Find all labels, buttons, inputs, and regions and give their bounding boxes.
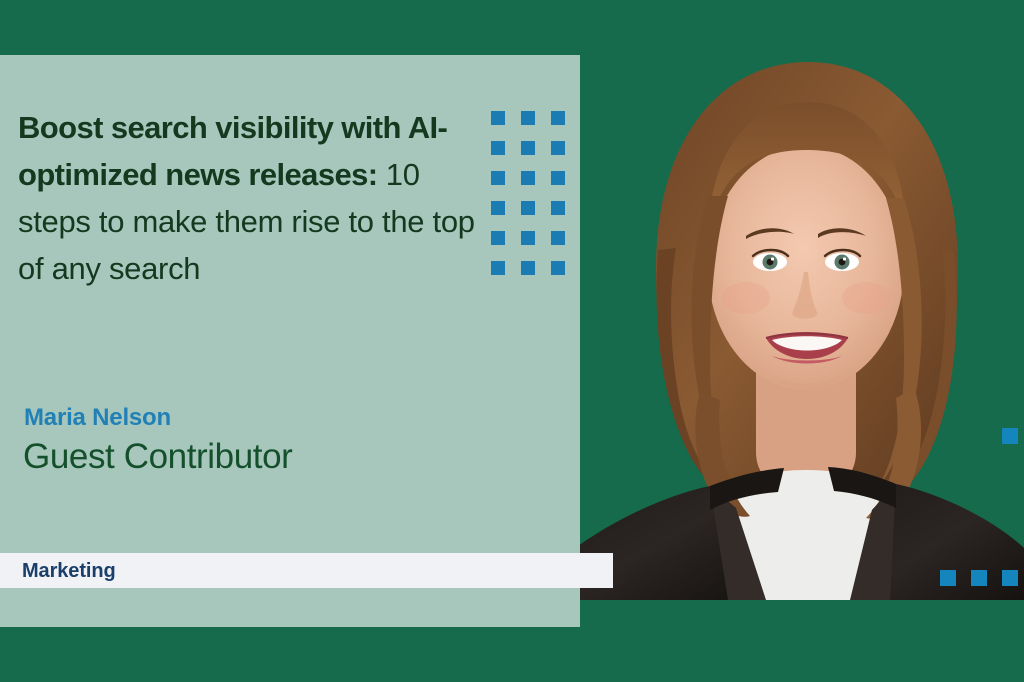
author-name: Maria Nelson xyxy=(24,404,171,432)
grid-square xyxy=(551,231,565,245)
grid-square xyxy=(551,171,565,185)
grid-square xyxy=(491,171,505,185)
article-promo-card: Boost search visibility with AI-optimize… xyxy=(0,0,1024,682)
accent-square-bottom-1 xyxy=(940,570,956,586)
grid-square xyxy=(521,201,535,215)
grid-square xyxy=(551,261,565,275)
decorative-dot-grid xyxy=(491,111,565,275)
category-label[interactable]: Marketing xyxy=(22,560,116,583)
author-role: Guest Contributor xyxy=(23,437,292,477)
grid-square xyxy=(491,231,505,245)
grid-square xyxy=(521,231,535,245)
grid-square xyxy=(521,141,535,155)
grid-square xyxy=(491,201,505,215)
grid-square xyxy=(491,141,505,155)
grid-square xyxy=(521,111,535,125)
grid-square xyxy=(551,111,565,125)
grid-square xyxy=(491,111,505,125)
author-portrait-photo xyxy=(560,0,1024,600)
accent-square-bottom-2 xyxy=(971,570,987,586)
grid-square xyxy=(521,171,535,185)
grid-square xyxy=(491,261,505,275)
accent-square-right xyxy=(1002,428,1018,444)
grid-square xyxy=(551,201,565,215)
accent-square-bottom-3 xyxy=(1002,570,1018,586)
grid-square xyxy=(551,141,565,155)
headline-text: Boost search visibility with AI-optimize… xyxy=(18,104,498,292)
grid-square xyxy=(521,261,535,275)
